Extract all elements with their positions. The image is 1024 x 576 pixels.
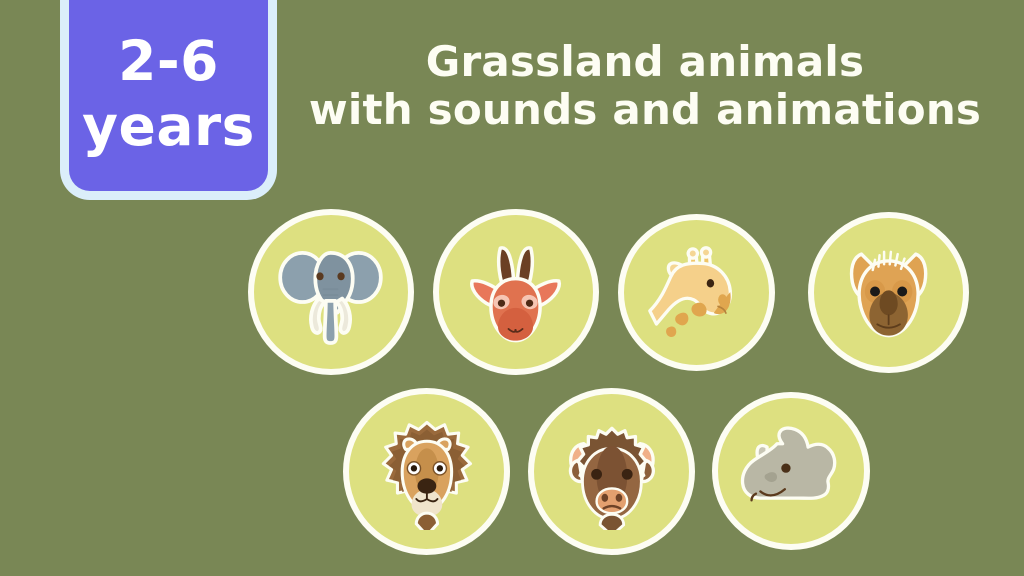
- animal-card-lion[interactable]: [343, 388, 510, 555]
- lion-icon: [368, 413, 486, 531]
- age-badge: 2-6 years: [60, 0, 277, 200]
- page-title-line-2: with sounds and animations: [280, 86, 1010, 134]
- bison-icon: [553, 413, 671, 531]
- hyena-icon: [832, 236, 945, 349]
- page-title: Grassland animals with sounds and animat…: [280, 38, 1010, 134]
- animal-card-hyena[interactable]: [808, 212, 969, 373]
- poster-canvas: 2-6 years Grassland animals with sounds …: [0, 0, 1024, 576]
- giraffe-icon: [641, 237, 751, 347]
- animal-card-antelope[interactable]: [433, 209, 599, 375]
- age-range-label: 2-6: [118, 34, 219, 89]
- animal-card-elephant[interactable]: [248, 209, 414, 375]
- age-unit-label: years: [82, 99, 255, 154]
- antelope-icon: [457, 233, 574, 350]
- elephant-icon: [272, 233, 389, 350]
- page-title-line-1: Grassland animals: [280, 38, 1010, 86]
- animal-card-bison[interactable]: [528, 388, 695, 555]
- rhino-icon: [736, 416, 847, 527]
- animal-card-rhino[interactable]: [712, 392, 870, 550]
- animal-card-giraffe[interactable]: [618, 214, 775, 371]
